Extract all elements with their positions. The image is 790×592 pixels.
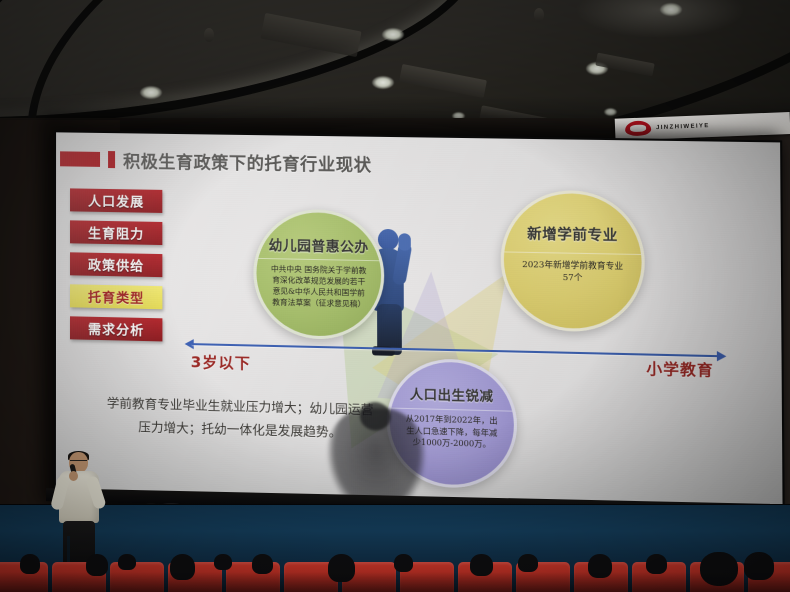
audience-head bbox=[20, 554, 40, 574]
bubble-gloss-line bbox=[390, 408, 514, 412]
audience-head bbox=[214, 554, 232, 570]
audience-head bbox=[252, 554, 273, 574]
page-title: 积极生育政策下的托育行业现状 bbox=[123, 147, 372, 176]
audience-head bbox=[518, 554, 538, 572]
bubble-title: 人口出生锐减 bbox=[410, 384, 494, 405]
nav-chip-demand[interactable]: 需求分析 bbox=[70, 316, 162, 341]
slide-surface: 积极生育政策下的托育行业现状 人口发展 生育阻力 政策供给 托育类型 需求分析 bbox=[56, 132, 783, 522]
presenter-shadow-head bbox=[360, 402, 391, 431]
title-accent-bar bbox=[108, 151, 115, 168]
audience-head bbox=[394, 554, 413, 572]
bubble-title: 幼儿园普惠公办 bbox=[269, 234, 369, 256]
audience-head bbox=[646, 554, 667, 574]
axis-label-right: 小学教育 bbox=[646, 358, 714, 381]
silhouette-head bbox=[378, 229, 399, 251]
axis-label-left: 3岁以下 bbox=[191, 351, 251, 374]
ceiling-spotlight bbox=[660, 3, 682, 16]
slide-title-row: 积极生育政策下的托育行业现状 bbox=[60, 146, 372, 176]
ceiling-spotlight bbox=[372, 76, 394, 89]
ceiling-sprinkler bbox=[534, 8, 544, 22]
nav-chip-barriers[interactable]: 生育阻力 bbox=[70, 220, 162, 245]
front-row-shadow bbox=[0, 572, 790, 592]
presenter-hand bbox=[69, 471, 78, 481]
bubble-gloss-line bbox=[256, 258, 381, 261]
bubble-body: 2023年新增学前教育专业57个 bbox=[504, 258, 642, 286]
presenter bbox=[52, 452, 108, 564]
slide-nav-chips: 人口发展 生育阻力 政策供给 托育类型 需求分析 bbox=[70, 188, 162, 341]
ceiling-sprinkler bbox=[204, 28, 214, 42]
bubble-body: 中共中央 国务院关于学前教育深化改革规范发展的若干意见&中华人民共和国学前教育法… bbox=[256, 263, 381, 310]
silhouette-hand bbox=[398, 233, 410, 250]
ceiling-spotlight bbox=[382, 28, 404, 41]
arrow-right-icon bbox=[717, 351, 727, 362]
bubble-title: 新增学前专业 bbox=[527, 223, 618, 245]
nav-chip-childcare-type-active[interactable]: 托育类型 bbox=[70, 284, 162, 309]
audience-head bbox=[118, 554, 136, 570]
bubble-gloss-line bbox=[504, 251, 642, 255]
conference-hall-photo: JINZHIWEIYE 积极生育政策下的托育行业现状 人口发展 生育阻力 政策供… bbox=[0, 0, 790, 592]
title-accent-block bbox=[60, 151, 100, 167]
nav-chip-policy[interactable]: 政策供给 bbox=[70, 252, 162, 277]
projection-screen: 积极生育政策下的托育行业现状 人口发展 生育阻力 政策供给 托育类型 需求分析 bbox=[56, 132, 783, 522]
nav-chip-population[interactable]: 人口发展 bbox=[70, 188, 162, 213]
